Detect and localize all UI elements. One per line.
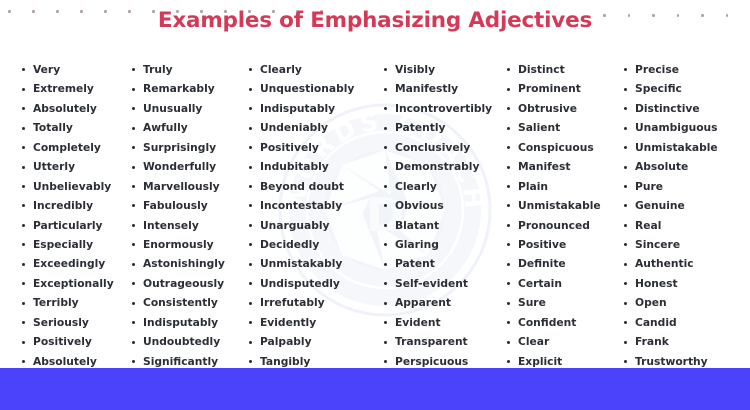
list-item: Unambiguous <box>622 118 742 137</box>
adjective-label: Patent <box>395 257 435 270</box>
list-item: Decidedly <box>247 235 382 254</box>
adjective-label: Specific <box>635 82 682 95</box>
bullet-icon <box>507 263 510 266</box>
bullet-icon <box>507 341 510 344</box>
adjective-label: Indisputably <box>143 316 218 329</box>
bullet-icon <box>384 263 387 266</box>
adjective-label: Sure <box>518 296 546 309</box>
adjective-label: Visibly <box>395 63 435 76</box>
bullet-icon <box>507 146 510 149</box>
bullet-icon <box>384 204 387 207</box>
adjective-label: Astonishingly <box>143 257 225 270</box>
adjective-label: Absolute <box>635 160 688 173</box>
adjective-label: Authentic <box>635 257 694 270</box>
list-item: Real <box>622 216 742 235</box>
adjective-label: Obvious <box>395 199 444 212</box>
bullet-icon <box>507 282 510 285</box>
adjective-label: Awfully <box>143 121 188 134</box>
list-item: Seriously <box>20 313 130 332</box>
adjective-label: Fabulously <box>143 199 208 212</box>
bullet-icon <box>624 360 627 363</box>
adjective-label: Absolutely <box>33 355 97 368</box>
list-item: Glaring <box>382 235 505 254</box>
bullet-icon <box>249 263 252 266</box>
adjective-label: Indisputably <box>260 102 335 115</box>
list-item: Exceedingly <box>20 254 130 273</box>
list-item: Conspicuous <box>505 138 622 157</box>
adjective-label: Especially <box>33 238 93 251</box>
adjective-label: Outrageously <box>143 277 224 290</box>
bullet-icon <box>132 107 135 110</box>
bullet-icon <box>249 224 252 227</box>
bullet-icon <box>22 224 25 227</box>
adjective-column-6: PreciseSpecificDistinctiveUnambiguousUnm… <box>622 60 742 360</box>
bullet-icon <box>249 282 252 285</box>
adjective-label: Patently <box>395 121 445 134</box>
list-item: Especially <box>20 235 130 254</box>
bullet-icon <box>384 321 387 324</box>
list-item: Conclusively <box>382 138 505 157</box>
infographic-page: Examples of Emphasizing Adjectives <box>0 0 750 410</box>
bullet-icon <box>249 341 252 344</box>
adjective-label: Self-evident <box>395 277 468 290</box>
bullet-icon <box>22 243 25 246</box>
list-item: Clearly <box>382 177 505 196</box>
dot-decoration <box>677 14 680 17</box>
bullet-icon <box>22 263 25 266</box>
bullet-icon <box>132 166 135 169</box>
list-item: Pure <box>622 177 742 196</box>
bullet-icon <box>132 341 135 344</box>
adjective-label: Consistently <box>143 296 218 309</box>
adjective-label: Clearly <box>260 63 302 76</box>
list-item: Absolutely <box>20 99 130 118</box>
adjective-label: Apparent <box>395 296 451 309</box>
list-item: Undeniably <box>247 118 382 137</box>
bullet-icon <box>624 321 627 324</box>
list-item: Plain <box>505 177 622 196</box>
adjective-label: Genuine <box>635 199 685 212</box>
list-item: Unmistakable <box>622 138 742 157</box>
list-item: Surprisingly <box>130 138 247 157</box>
list-item: Intensely <box>130 216 247 235</box>
bullet-icon <box>624 224 627 227</box>
bullet-icon <box>624 282 627 285</box>
list-item: Apparent <box>382 293 505 312</box>
list-item: Pronounced <box>505 216 622 235</box>
list-item: Obvious <box>382 196 505 215</box>
list-item: Patently <box>382 118 505 137</box>
adjective-column-5: DistinctProminentObtrusiveSalientConspic… <box>505 60 622 360</box>
adjective-label: Unusually <box>143 102 202 115</box>
bullet-icon <box>507 321 510 324</box>
list-item: Manifestly <box>382 79 505 98</box>
adjective-label: Extremely <box>33 82 94 95</box>
bullet-icon <box>507 107 510 110</box>
bullet-icon <box>22 166 25 169</box>
list-item: Blatant <box>382 216 505 235</box>
bullet-icon <box>624 68 627 71</box>
bullet-icon <box>249 360 252 363</box>
adjective-label: Unmistakable <box>635 141 718 154</box>
adjective-label: Clear <box>518 335 549 348</box>
bullet-icon <box>132 243 135 246</box>
list-item: Prominent <box>505 79 622 98</box>
bullet-icon <box>249 88 252 91</box>
list-item: Definite <box>505 254 622 273</box>
dot-decoration <box>628 14 631 17</box>
bullet-icon <box>384 166 387 169</box>
list-item: Unbelievably <box>20 177 130 196</box>
bullet-icon <box>507 224 510 227</box>
list-item: Self-evident <box>382 274 505 293</box>
bullet-icon <box>384 185 387 188</box>
dot-decoration <box>603 14 606 17</box>
adjective-label: Positively <box>33 335 92 348</box>
bullet-icon <box>624 88 627 91</box>
list-item: Frank <box>622 332 742 351</box>
list-item: Utterly <box>20 157 130 176</box>
bullet-icon <box>384 302 387 305</box>
list-item: Candid <box>622 313 742 332</box>
bullet-icon <box>132 224 135 227</box>
bullet-icon <box>132 321 135 324</box>
list-item: Salient <box>505 118 622 137</box>
bullet-icon <box>132 282 135 285</box>
bullet-icon <box>132 302 135 305</box>
list-item: Indisputably <box>247 99 382 118</box>
list-item: Patent <box>382 254 505 273</box>
list-item: Terribly <box>20 293 130 312</box>
adjective-label: Unambiguous <box>635 121 718 134</box>
adjective-label: Undoubtedly <box>143 335 220 348</box>
bullet-icon <box>249 321 252 324</box>
bullet-icon <box>22 360 25 363</box>
list-item: Particularly <box>20 216 130 235</box>
adjective-label: Completely <box>33 141 101 154</box>
bullet-icon <box>22 204 25 207</box>
list-item: Specific <box>622 79 742 98</box>
adjective-label: Demonstrably <box>395 160 479 173</box>
adjective-column-2: TrulyRemarkablyUnusuallyAwfullySurprisin… <box>130 60 247 360</box>
bullet-icon <box>507 88 510 91</box>
list-item: Clear <box>505 332 622 351</box>
bullet-icon <box>507 185 510 188</box>
bullet-icon <box>249 146 252 149</box>
bullet-icon <box>507 204 510 207</box>
bullet-icon <box>132 88 135 91</box>
adjective-label: Undisputedly <box>260 277 340 290</box>
adjective-label: Explicit <box>518 355 562 368</box>
adjective-label: Beyond doubt <box>260 180 344 193</box>
list-item: Honest <box>622 274 742 293</box>
adjective-label: Unbelievably <box>33 180 111 193</box>
bullet-icon <box>624 127 627 130</box>
bullet-icon <box>384 224 387 227</box>
list-item: Distinct <box>505 60 622 79</box>
bullet-icon <box>624 341 627 344</box>
list-item: Fabulously <box>130 196 247 215</box>
dot-decoration <box>652 14 655 17</box>
bullet-icon <box>624 107 627 110</box>
bullet-icon <box>384 243 387 246</box>
adjective-label: Exceptionally <box>33 277 114 290</box>
adjective-label: Trustworthy <box>635 355 708 368</box>
bullet-icon <box>132 146 135 149</box>
list-item: Incontrovertibly <box>382 99 505 118</box>
bullet-icon <box>22 88 25 91</box>
list-item: Completely <box>20 138 130 157</box>
bullet-icon <box>624 302 627 305</box>
list-item: Incredibly <box>20 196 130 215</box>
adjective-label: Incredibly <box>33 199 93 212</box>
adjective-label: Blatant <box>395 219 439 232</box>
bullet-icon <box>22 107 25 110</box>
list-item: Demonstrably <box>382 157 505 176</box>
adjective-label: Frank <box>635 335 669 348</box>
adjective-label: Certain <box>518 277 562 290</box>
adjective-label: Manifestly <box>395 82 458 95</box>
adjective-column-1: VeryExtremelyAbsolutelyTotallyCompletely… <box>20 60 130 360</box>
bullet-icon <box>22 321 25 324</box>
bullet-icon <box>624 185 627 188</box>
adjective-label: Distinct <box>518 63 565 76</box>
list-item: Undisputedly <box>247 274 382 293</box>
list-item: Incontestably <box>247 196 382 215</box>
bullet-icon <box>624 166 627 169</box>
bullet-icon <box>22 146 25 149</box>
bullet-icon <box>22 282 25 285</box>
list-item: Consistently <box>130 293 247 312</box>
adjective-label: Irrefutably <box>260 296 325 309</box>
bullet-icon <box>624 243 627 246</box>
list-item: Unquestionably <box>247 79 382 98</box>
list-item: Unmistakable <box>505 196 622 215</box>
list-item: Indisputably <box>130 313 247 332</box>
adjective-label: Marvellously <box>143 180 220 193</box>
list-item: Transparent <box>382 332 505 351</box>
adjective-label: Precise <box>635 63 679 76</box>
bullet-icon <box>507 302 510 305</box>
list-item: Positively <box>247 138 382 157</box>
adjective-label: Decidedly <box>260 238 319 251</box>
list-item: Open <box>622 293 742 312</box>
bullet-icon <box>249 127 252 130</box>
adjective-label: Truly <box>143 63 173 76</box>
adjective-label: Definite <box>518 257 566 270</box>
adjective-label: Prominent <box>518 82 581 95</box>
dot-row <box>603 14 750 17</box>
adjective-label: Plain <box>518 180 548 193</box>
list-item: Undoubtedly <box>130 332 247 351</box>
list-item: Manifest <box>505 157 622 176</box>
list-item: Irrefutably <box>247 293 382 312</box>
bullet-icon <box>132 360 135 363</box>
list-item: Sure <box>505 293 622 312</box>
adjective-label: Intensely <box>143 219 199 232</box>
list-item: Remarkably <box>130 79 247 98</box>
adjective-label: Real <box>635 219 661 232</box>
adjective-label: Unmistakable <box>518 199 601 212</box>
bullet-icon <box>384 127 387 130</box>
bullet-icon <box>384 146 387 149</box>
adjective-label: Terribly <box>33 296 79 309</box>
bullet-icon <box>507 243 510 246</box>
bullet-icon <box>249 204 252 207</box>
adjective-label: Positive <box>518 238 566 251</box>
list-item: Evident <box>382 313 505 332</box>
list-item: Marvellously <box>130 177 247 196</box>
adjective-label: Transparent <box>395 335 468 348</box>
dot-decoration <box>726 14 729 17</box>
bullet-icon <box>384 341 387 344</box>
adjective-label: Unquestionably <box>260 82 354 95</box>
bullet-icon <box>22 302 25 305</box>
bullet-icon <box>507 68 510 71</box>
list-item: Astonishingly <box>130 254 247 273</box>
adjective-label: Perspicuous <box>395 355 468 368</box>
bullet-icon <box>132 68 135 71</box>
list-item: Unmistakably <box>247 254 382 273</box>
list-item: Absolute <box>622 157 742 176</box>
bullet-icon <box>384 360 387 363</box>
adjective-label: Totally <box>33 121 73 134</box>
list-item: Truly <box>130 60 247 79</box>
list-item: Evidently <box>247 313 382 332</box>
adjective-column-3: ClearlyUnquestionablyIndisputablyUndenia… <box>247 60 382 360</box>
adjective-label: Significantly <box>143 355 218 368</box>
list-item: Very <box>20 60 130 79</box>
adjective-label: Remarkably <box>143 82 215 95</box>
bullet-icon <box>132 204 135 207</box>
list-item: Exceptionally <box>20 274 130 293</box>
adjective-label: Clearly <box>395 180 437 193</box>
adjective-label: Pure <box>635 180 663 193</box>
adjective-column-4: VisiblyManifestlyIncontrovertiblyPatentl… <box>382 60 505 360</box>
adjective-label: Utterly <box>33 160 75 173</box>
adjective-label: Honest <box>635 277 678 290</box>
bullet-icon <box>22 68 25 71</box>
list-item: Authentic <box>622 254 742 273</box>
list-item: Outrageously <box>130 274 247 293</box>
adjective-label: Surprisingly <box>143 141 216 154</box>
bullet-icon <box>507 360 510 363</box>
bullet-icon <box>132 185 135 188</box>
bullet-icon <box>22 185 25 188</box>
bullet-icon <box>384 88 387 91</box>
bullet-icon <box>507 127 510 130</box>
list-item: Enormously <box>130 235 247 254</box>
adjective-label: Indubitably <box>260 160 329 173</box>
adjective-label: Seriously <box>33 316 89 329</box>
adjective-label: Glaring <box>395 238 439 251</box>
adjective-label: Tangibly <box>260 355 310 368</box>
adjective-columns: VeryExtremelyAbsolutelyTotallyCompletely… <box>0 60 750 360</box>
bullet-icon <box>249 302 252 305</box>
list-item: Sincere <box>622 235 742 254</box>
adjective-label: Open <box>635 296 667 309</box>
adjective-label: Evident <box>395 316 441 329</box>
adjective-label: Enormously <box>143 238 214 251</box>
adjective-label: Incontestably <box>260 199 342 212</box>
list-item: Extremely <box>20 79 130 98</box>
bullet-icon <box>384 107 387 110</box>
bullet-icon <box>132 263 135 266</box>
dot-grid-right-decoration <box>603 14 750 39</box>
list-item: Positively <box>20 332 130 351</box>
bullet-icon <box>624 263 627 266</box>
adjective-label: Conspicuous <box>518 141 594 154</box>
adjective-label: Exceedingly <box>33 257 105 270</box>
list-item: Awfully <box>130 118 247 137</box>
adjective-label: Palpably <box>260 335 312 348</box>
list-item: Clearly <box>247 60 382 79</box>
adjective-label: Salient <box>518 121 560 134</box>
adjective-label: Positively <box>260 141 319 154</box>
bullet-icon <box>624 146 627 149</box>
bullet-icon <box>22 127 25 130</box>
bullet-icon <box>249 166 252 169</box>
list-item: Precise <box>622 60 742 79</box>
list-item: Wonderfully <box>130 157 247 176</box>
list-item: Distinctive <box>622 99 742 118</box>
adjective-label: Sincere <box>635 238 680 251</box>
adjective-label: Candid <box>635 316 677 329</box>
adjective-label: Conclusively <box>395 141 470 154</box>
dot-decoration <box>701 14 704 17</box>
bullet-icon <box>249 107 252 110</box>
list-item: Unusually <box>130 99 247 118</box>
list-item: Genuine <box>622 196 742 215</box>
adjective-label: Very <box>33 63 60 76</box>
adjective-label: Absolutely <box>33 102 97 115</box>
adjective-label: Unmistakably <box>260 257 342 270</box>
bullet-icon <box>249 185 252 188</box>
adjective-label: Manifest <box>518 160 571 173</box>
list-item: Unarguably <box>247 216 382 235</box>
list-item: Totally <box>20 118 130 137</box>
bullet-icon <box>507 166 510 169</box>
footer-band: www.wordscoach.com <box>0 368 750 410</box>
list-item: Obtrusive <box>505 99 622 118</box>
list-item: Confident <box>505 313 622 332</box>
adjective-label: Pronounced <box>518 219 590 232</box>
list-item: Indubitably <box>247 157 382 176</box>
list-item: Certain <box>505 274 622 293</box>
bullet-icon <box>624 204 627 207</box>
bullet-icon <box>384 282 387 285</box>
list-item: Positive <box>505 235 622 254</box>
adjective-label: Distinctive <box>635 102 700 115</box>
adjective-label: Wonderfully <box>143 160 216 173</box>
bullet-icon <box>22 341 25 344</box>
adjective-label: Evidently <box>260 316 316 329</box>
bullet-icon <box>132 127 135 130</box>
adjective-label: Unarguably <box>260 219 330 232</box>
bullet-icon <box>384 68 387 71</box>
list-item: Beyond doubt <box>247 177 382 196</box>
bullet-icon <box>249 243 252 246</box>
list-item: Palpably <box>247 332 382 351</box>
adjective-label: Undeniably <box>260 121 328 134</box>
adjective-label: Obtrusive <box>518 102 577 115</box>
bullet-icon <box>249 68 252 71</box>
adjective-label: Incontrovertibly <box>395 102 492 115</box>
adjective-label: Particularly <box>33 219 103 232</box>
list-item: Visibly <box>382 60 505 79</box>
adjective-label: Confident <box>518 316 576 329</box>
